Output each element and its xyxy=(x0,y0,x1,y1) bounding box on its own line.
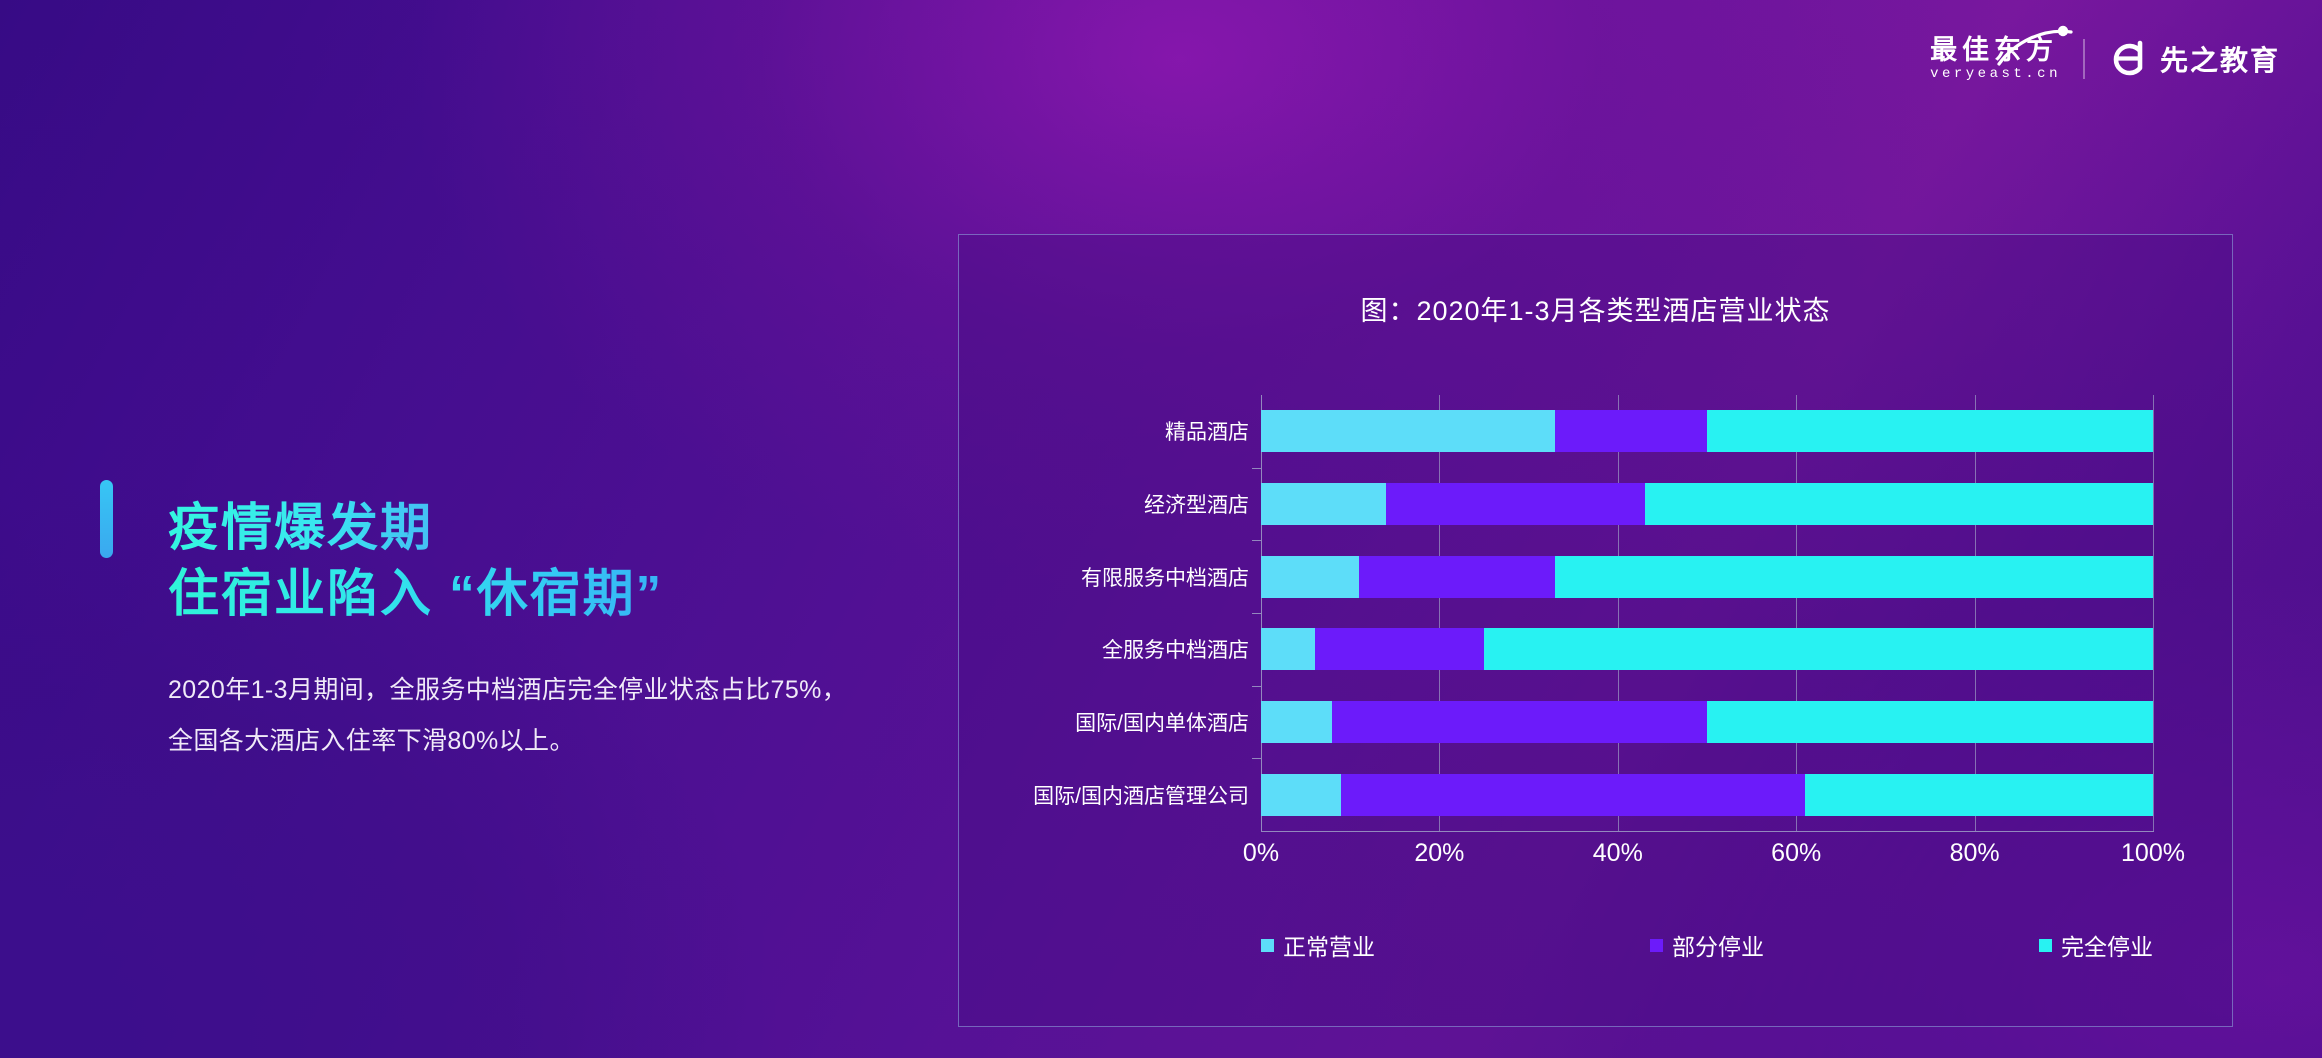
chart-bar-segment xyxy=(1261,774,1341,816)
accent-bar xyxy=(100,480,113,558)
legend-item[interactable]: 部分停业 xyxy=(1650,928,1764,962)
y-axis-category-label: 经济型酒店 xyxy=(959,489,1249,519)
chart-bar-segment xyxy=(1315,628,1484,670)
legend-swatch-icon xyxy=(1261,939,1274,952)
x-axis-tick-label: 0% xyxy=(1243,839,1279,868)
y-axis-tick xyxy=(1252,468,1261,469)
chart-bar-segment xyxy=(1341,774,1805,816)
brand-logo-row: 最佳东方 veryeast.cn 先之教育 xyxy=(1930,26,2280,92)
chart-bar-segment xyxy=(1332,701,1707,743)
xianzhi-logo-cn: 先之教育 xyxy=(2160,39,2280,79)
chart-legend: 正常营业部分停业完全停业 xyxy=(1261,925,2153,965)
legend-swatch-icon xyxy=(2039,939,2052,952)
y-axis-category-label: 有限服务中档酒店 xyxy=(959,562,1249,592)
x-axis-tick-label: 80% xyxy=(1950,839,2000,868)
y-axis-category-label: 国际/国内酒店管理公司 xyxy=(959,780,1249,810)
chart-bar-segment xyxy=(1261,701,1332,743)
x-axis-tick-label: 20% xyxy=(1414,839,1464,868)
legend-item[interactable]: 完全停业 xyxy=(2039,928,2153,962)
chart-bar-segment xyxy=(1555,556,2153,598)
chart-panel: 图：2020年1-3月各类型酒店营业状态 精品酒店经济型酒店有限服务中档酒店全服… xyxy=(958,234,2233,1027)
chart-bar-segment xyxy=(1645,483,2153,525)
y-axis-tick xyxy=(1252,540,1261,541)
e-mark-icon xyxy=(2107,37,2151,81)
chart-bar-segment xyxy=(1261,483,1386,525)
chart-bar-row xyxy=(1261,774,2153,816)
chart-bar-segment xyxy=(1261,556,1359,598)
y-axis-category-label: 全服务中档酒店 xyxy=(959,634,1249,664)
legend-item[interactable]: 正常营业 xyxy=(1261,928,1375,962)
chart-bar-segment xyxy=(1386,483,1645,525)
chart-plot-area xyxy=(1261,395,2153,831)
chart-bar-row xyxy=(1261,701,2153,743)
chart-bar-row xyxy=(1261,628,2153,670)
x-axis-line xyxy=(1261,831,2154,832)
chart-plot-wrapper: 精品酒店经济型酒店有限服务中档酒店全服务中档酒店国际/国内单体酒店国际/国内酒店… xyxy=(959,235,2234,1028)
headline-block: 疫情爆发期 住宿业陷入 “休宿期” xyxy=(168,495,868,628)
chart-bar-segment xyxy=(1261,628,1315,670)
chart-bar-row xyxy=(1261,410,2153,452)
left-text-panel: 疫情爆发期 住宿业陷入 “休宿期” 2020年1-3月期间，全服务中档酒店完全停… xyxy=(0,0,960,1058)
x-axis-tick-label: 40% xyxy=(1593,839,1643,868)
chart-bar-segment xyxy=(1555,410,1707,452)
y-axis-tick xyxy=(1252,613,1261,614)
body-copy: 2020年1-3月期间，全服务中档酒店完全停业状态占比75%， 全国各大酒店入住… xyxy=(168,665,908,768)
xianzhi-logo: 先之教育 xyxy=(2107,37,2280,81)
chart-bar-segment xyxy=(1707,701,2153,743)
chart-bar-segment xyxy=(1261,410,1555,452)
body-paragraph-1: 2020年1-3月期间，全服务中档酒店完全停业状态占比75%， xyxy=(168,665,908,716)
body-paragraph-2: 全国各大酒店入住率下滑80%以上。 xyxy=(168,716,908,767)
y-axis-tick xyxy=(1252,686,1261,687)
swoosh-icon xyxy=(1997,24,2087,73)
x-axis-tick-label: 100% xyxy=(2121,839,2185,868)
legend-label: 正常营业 xyxy=(1283,928,1375,962)
gridline xyxy=(2153,395,2154,831)
chart-bar-segment xyxy=(1359,556,1555,598)
chart-bar-segment xyxy=(1484,628,2153,670)
headline-line-2: 住宿业陷入 “休宿期” xyxy=(168,561,868,627)
legend-label: 完全停业 xyxy=(2061,928,2153,962)
y-axis-category-label: 国际/国内单体酒店 xyxy=(959,707,1249,737)
legend-label: 部分停业 xyxy=(1672,928,1764,962)
legend-swatch-icon xyxy=(1650,939,1663,952)
chart-bar-row xyxy=(1261,483,2153,525)
y-axis-tick xyxy=(1252,758,1261,759)
headline-line-1: 疫情爆发期 xyxy=(168,495,868,561)
chart-bar-segment xyxy=(1707,410,2153,452)
veryeast-logo: 最佳东方 veryeast.cn xyxy=(1930,36,2061,82)
x-axis-tick-label: 60% xyxy=(1771,839,1821,868)
chart-bar-segment xyxy=(1805,774,2153,816)
chart-bar-row xyxy=(1261,556,2153,598)
y-axis-category-label: 精品酒店 xyxy=(959,416,1249,446)
